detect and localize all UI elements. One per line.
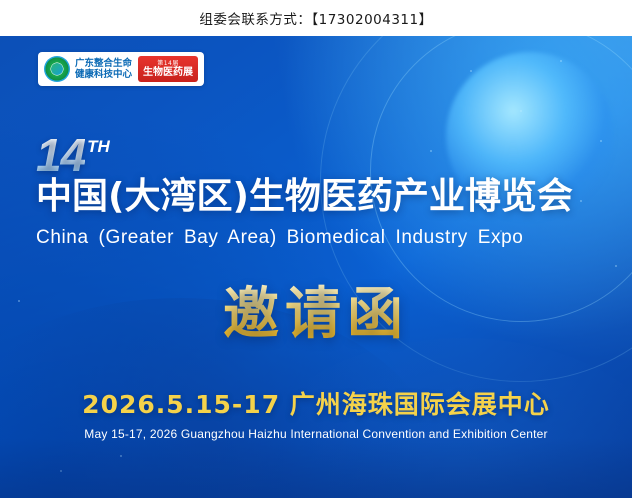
organizer-name-line-1: 广东整合生命 (75, 58, 132, 70)
expo-badge: 第14届 生物医药展 (138, 56, 198, 82)
event-title-english: China (Greater Bay Area) Biomedical Indu… (36, 226, 523, 250)
top-contact-bar: 组委会联系方式：【17302004311】 (0, 0, 632, 36)
organizer-name-line-2: 健康科技中心 (75, 69, 132, 81)
organizer-name-chinese: 广东整合生命 健康科技中心 (75, 56, 132, 82)
event-date-venue-chinese: 2026.5.15-17 广州海珠国际会展中心 (0, 390, 632, 420)
bottom-gradient-overlay (0, 438, 632, 498)
organizer-logo: 广东整合生命 健康科技中心 第14届 生物医药展 (38, 52, 204, 86)
expo-badge-edition: 第14届 (157, 60, 179, 67)
invitation-poster: 组委会联系方式：【17302004311】 广东整合生命 健康科技中心 第14届… (0, 0, 632, 498)
event-title-chinese: 中国(大湾区)生物医药产业博览会 (36, 176, 573, 218)
expo-badge-title: 生物医药展 (143, 67, 193, 79)
organization-emblem-icon (44, 56, 70, 82)
invitation-headline: 邀请函 (0, 282, 632, 348)
event-date-venue-english: May 15-17, 2026 Guangzhou Haizhu Interna… (0, 426, 632, 442)
edition-number: 14 (36, 132, 85, 178)
edition-marker: 14 TH (36, 132, 110, 178)
organizer-contact-text: 组委会联系方式：【17302004311】 (0, 8, 632, 28)
edition-suffix: TH (87, 138, 110, 155)
